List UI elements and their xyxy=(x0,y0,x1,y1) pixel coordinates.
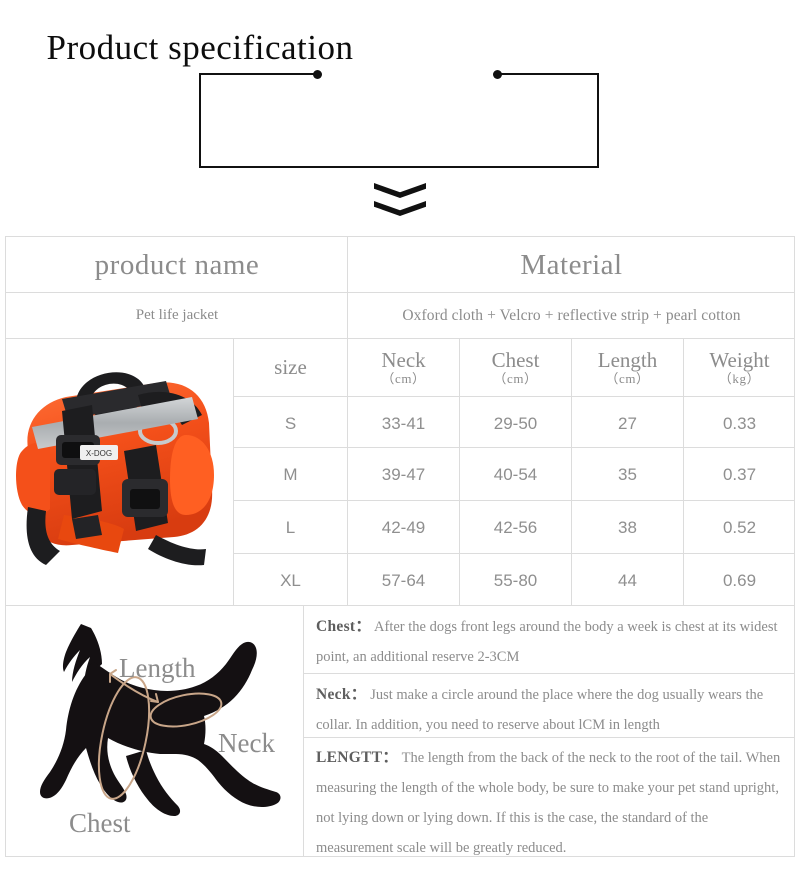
note-neck-text: Just make a circle around the place wher… xyxy=(316,687,763,733)
table-row-cell-size: L xyxy=(234,501,347,554)
header-product-name: product name xyxy=(6,237,348,293)
table-row-cell-size: XL xyxy=(234,554,347,607)
col-header-size: size xyxy=(234,339,347,396)
table-row-cell-chest: 40-54 xyxy=(460,448,571,501)
table-row-cell-length: 44 xyxy=(572,554,683,607)
dog-label-chest: Chest xyxy=(69,808,131,838)
header-banner: Product specification xyxy=(0,0,800,228)
dog-label-length: Length xyxy=(119,653,196,683)
col-header-chest: Chest （cm） xyxy=(460,339,571,396)
col-header-size-label: size xyxy=(274,357,307,379)
table-row-cell-size: M xyxy=(234,448,347,501)
table-row-cell-chest: 29-50 xyxy=(460,397,571,450)
page-title: Product specification xyxy=(0,0,400,95)
col-header-length-label: Length xyxy=(598,350,657,372)
col-header-length-unit: （cm） xyxy=(605,372,649,386)
table-row-cell-weight: 0.37 xyxy=(684,448,795,501)
col-header-neck-unit: （cm） xyxy=(381,372,425,386)
dog-label-neck: Neck xyxy=(218,728,275,758)
note-chest-term: Chest： xyxy=(316,618,371,635)
table-row-cell-neck: 42-49 xyxy=(348,501,459,554)
dog-silhouette-icon: Length Neck Chest xyxy=(6,606,303,856)
table-row-cell-weight: 0.52 xyxy=(684,501,795,554)
table-row-cell-length: 35 xyxy=(572,448,683,501)
col-header-weight: Weight （kg） xyxy=(684,339,795,396)
brand-tag-text: X-DOG xyxy=(86,449,112,458)
table-row-cell-length: 38 xyxy=(572,501,683,554)
chevron-down-icon-bottom xyxy=(374,201,426,216)
col-header-chest-label: Chest xyxy=(492,350,540,372)
life-jacket-illustration: X-DOG xyxy=(6,339,233,605)
table-row-cell-neck: 57-64 xyxy=(348,554,459,607)
table-row-cell-weight: 0.69 xyxy=(684,554,795,607)
note-chest-text: After the dogs front legs around the bod… xyxy=(316,619,778,665)
table-row-cell-length: 27 xyxy=(572,397,683,450)
table-row-cell-chest: 55-80 xyxy=(460,554,571,607)
note-length-term: LENGTT： xyxy=(316,749,398,766)
header-material: Material xyxy=(348,237,795,293)
table-row-cell-chest: 42-56 xyxy=(460,501,571,554)
col-header-chest-unit: （cm） xyxy=(493,372,537,386)
table-row-cell-weight: 0.33 xyxy=(684,397,795,450)
note-chest: Chest： After the dogs front legs around … xyxy=(316,612,786,672)
table-row-cell-neck: 39-47 xyxy=(348,448,459,501)
product-photo: X-DOG xyxy=(6,339,233,605)
value-product-name: Pet life jacket xyxy=(6,293,348,338)
table-row-cell-size: S xyxy=(234,397,347,450)
chevron-down-icon-top xyxy=(374,183,426,198)
col-header-length: Length （cm） xyxy=(572,339,683,396)
note-length: LENGTT： The length from the back of the … xyxy=(316,743,786,863)
double-chevron-down-icon xyxy=(374,183,426,217)
col-header-weight-label: Weight xyxy=(709,350,769,372)
grid-line-v-7 xyxy=(303,605,304,857)
product-specification-page: Product specification product name Mater… xyxy=(0,0,800,869)
dog-measurement-diagram: Length Neck Chest xyxy=(6,606,303,856)
grid-line-h-8 xyxy=(303,673,795,674)
col-header-weight-unit: （kg） xyxy=(719,372,760,386)
col-header-neck: Neck （cm） xyxy=(348,339,459,396)
value-material: Oxford cloth + Velcro + reflective strip… xyxy=(348,293,795,338)
col-header-neck-label: Neck xyxy=(381,350,425,372)
note-neck-term: Neck： xyxy=(316,686,367,703)
note-neck: Neck： Just make a circle around the plac… xyxy=(316,680,786,740)
table-row-cell-neck: 33-41 xyxy=(348,397,459,450)
